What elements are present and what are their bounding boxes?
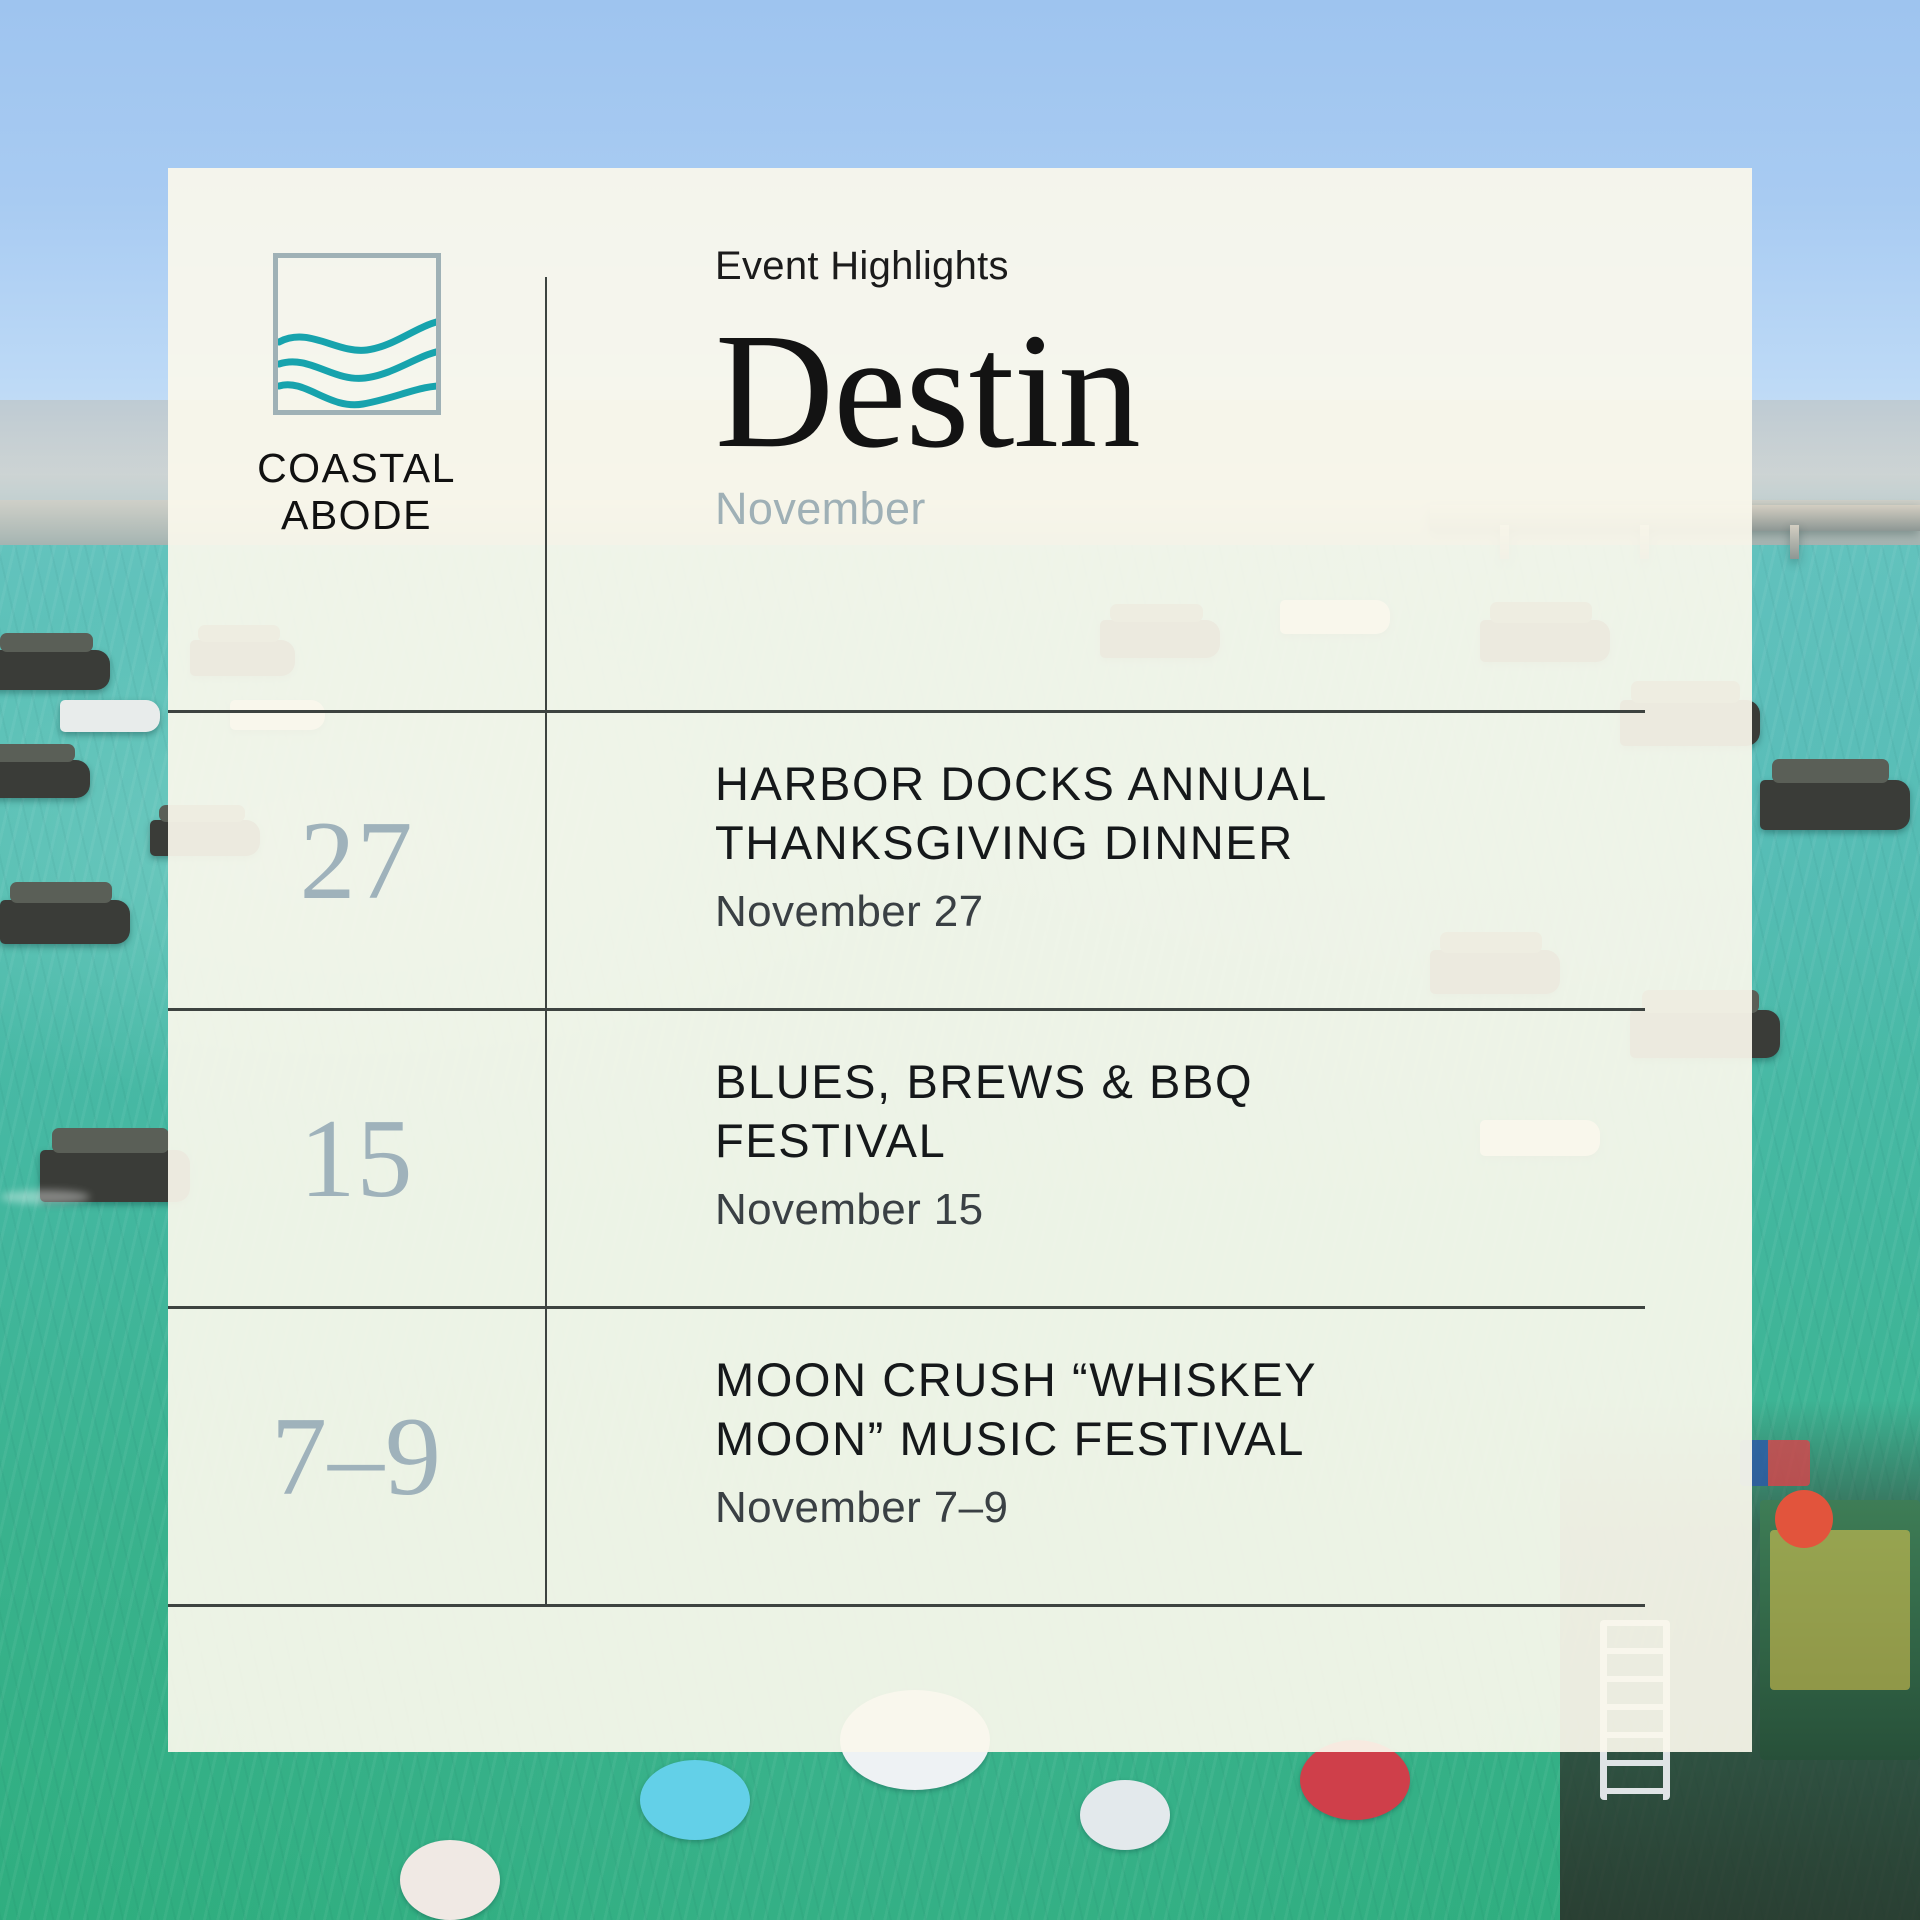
background-pier-piling	[1790, 525, 1799, 559]
event-day-number: 15	[300, 1103, 414, 1215]
event-day-column: 7–9	[168, 1309, 545, 1604]
row-vertical-divider	[545, 1011, 547, 1306]
event-date: November 27	[715, 887, 1752, 937]
row-vertical-divider	[545, 713, 547, 1008]
event-date: November 7–9	[715, 1483, 1752, 1533]
background-pool-float	[640, 1760, 750, 1840]
event-day-number: 7–9	[271, 1401, 442, 1513]
background-wake	[0, 1190, 90, 1204]
brand-name: COASTAL ABODE	[257, 445, 456, 538]
event-day-number: 27	[300, 805, 414, 917]
month-subtitle: November	[715, 483, 1752, 535]
card-header: COASTAL ABODE Event Highlights Destin No…	[168, 168, 1752, 710]
event-info-column: MOON CRUSH “WHISKEY MOON” MUSIC FESTIVAL…	[545, 1309, 1752, 1604]
card-footer-space	[168, 1607, 1752, 1752]
title-block: Event Highlights Destin November	[545, 168, 1752, 710]
brand-name-line-1: COASTAL	[257, 445, 456, 492]
background-store-sign	[1770, 1530, 1910, 1690]
background-boat	[1760, 780, 1910, 830]
page-title: Destin	[715, 308, 1752, 473]
brand-block: COASTAL ABODE	[168, 168, 545, 710]
event-row[interactable]: 27 HARBOR DOCKS ANNUAL THANKSGIVING DINN…	[168, 713, 1752, 1008]
event-highlights-card: COASTAL ABODE Event Highlights Destin No…	[168, 168, 1752, 1752]
event-day-column: 15	[168, 1011, 545, 1306]
wave-square-icon	[273, 253, 441, 415]
event-info-column: BLUES, BREWS & BBQ FESTIVAL November 15	[545, 1011, 1752, 1306]
event-title: MOON CRUSH “WHISKEY MOON” MUSIC FESTIVAL	[715, 1351, 1445, 1469]
brand-name-line-2: ABODE	[257, 492, 456, 539]
background-boat	[0, 760, 90, 798]
event-day-column: 27	[168, 713, 545, 1008]
event-title: HARBOR DOCKS ANNUAL THANKSGIVING DINNER	[715, 755, 1445, 873]
row-vertical-divider	[545, 1309, 547, 1604]
background-pool-float	[1080, 1780, 1170, 1850]
background-boat	[0, 900, 130, 944]
background-boat	[0, 650, 110, 690]
event-info-column: HARBOR DOCKS ANNUAL THANKSGIVING DINNER …	[545, 713, 1752, 1008]
background-boat	[60, 700, 160, 732]
event-title: BLUES, BREWS & BBQ FESTIVAL	[715, 1053, 1445, 1171]
background-pool-float	[400, 1840, 500, 1920]
event-row[interactable]: 15 BLUES, BREWS & BBQ FESTIVAL November …	[168, 1011, 1752, 1306]
event-row[interactable]: 7–9 MOON CRUSH “WHISKEY MOON” MUSIC FEST…	[168, 1309, 1752, 1604]
eyebrow-label: Event Highlights	[715, 246, 1752, 286]
background-lifering-icon	[1775, 1490, 1833, 1548]
background-pool-float	[1300, 1740, 1410, 1820]
event-date: November 15	[715, 1185, 1752, 1235]
